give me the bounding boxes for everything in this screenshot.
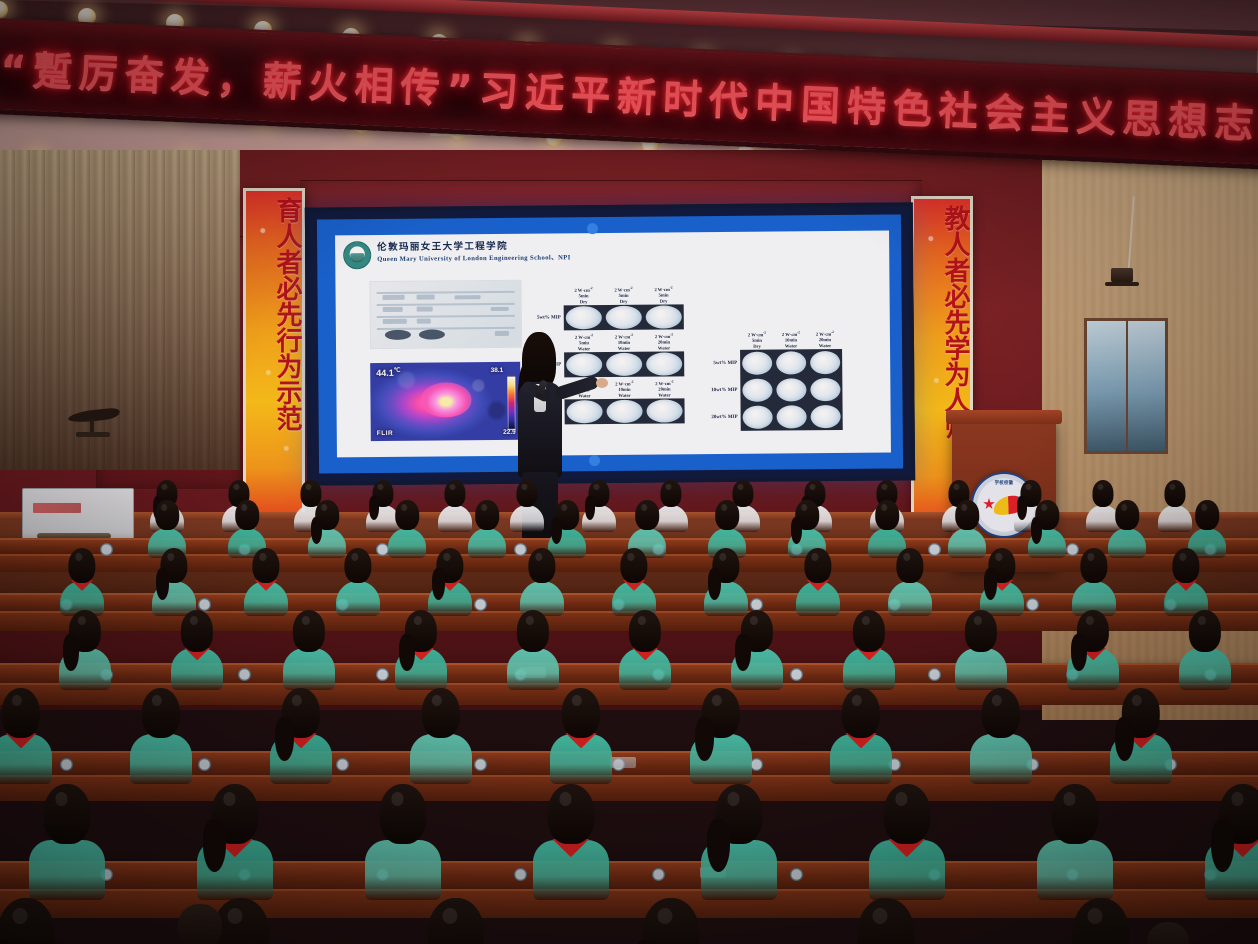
student xyxy=(336,548,380,616)
seat-number-badge xyxy=(336,758,349,771)
speaker-bracket xyxy=(1105,282,1139,286)
student-head xyxy=(379,784,426,844)
student-head xyxy=(635,500,659,530)
ponytail xyxy=(984,568,997,599)
student xyxy=(830,688,892,784)
student-uniform xyxy=(955,648,1007,690)
ponytail xyxy=(203,819,226,872)
student xyxy=(507,610,559,690)
student xyxy=(59,610,111,690)
student xyxy=(690,688,752,784)
slide-title-cn: 伦敦玛丽女王大学工程学院 xyxy=(377,238,508,253)
seat-plate xyxy=(610,757,636,768)
student xyxy=(438,480,472,532)
screen-dot xyxy=(587,223,598,234)
student xyxy=(520,548,564,616)
adult-head xyxy=(1147,922,1189,944)
seat-number-badge xyxy=(1026,598,1039,611)
student-head xyxy=(1072,898,1129,944)
sample-disc xyxy=(742,352,772,375)
student xyxy=(1158,480,1192,532)
student-head xyxy=(155,500,179,530)
student xyxy=(1179,610,1231,690)
projector-screen[interactable]: 伦敦玛丽女王大学工程学院 Queen Mary University of Lo… xyxy=(305,202,915,485)
student xyxy=(365,784,441,900)
student-head xyxy=(395,500,419,530)
student-head xyxy=(427,898,484,944)
student-head xyxy=(875,500,899,530)
ponytail xyxy=(369,496,379,520)
audience-area xyxy=(0,452,1258,944)
student-uniform xyxy=(130,734,192,784)
disc-column-label: 2 W·cm-2 10min Water xyxy=(604,333,644,352)
student-uniform xyxy=(507,648,559,690)
thermal-hotspot xyxy=(420,382,471,417)
adult-attendee xyxy=(1130,922,1206,944)
student-head xyxy=(293,610,325,652)
disc-row-label: 10wt% MIP xyxy=(696,387,737,392)
student xyxy=(533,784,609,900)
student xyxy=(468,500,506,558)
ponytail xyxy=(585,496,595,520)
student xyxy=(1037,784,1113,900)
student xyxy=(955,610,1007,690)
disc-column-label: 2 W·cm-2 20min Water xyxy=(644,379,684,398)
student xyxy=(244,548,288,616)
student xyxy=(410,898,502,944)
student-head xyxy=(562,688,600,738)
student xyxy=(60,548,104,616)
student-head xyxy=(422,688,460,738)
student-uniform xyxy=(29,840,105,900)
seat-number-badge xyxy=(790,868,803,881)
student xyxy=(619,610,671,690)
student xyxy=(550,688,612,784)
student xyxy=(171,610,223,690)
student xyxy=(888,548,932,616)
student xyxy=(283,610,335,690)
student-head xyxy=(142,688,180,738)
ponytail xyxy=(156,568,169,599)
screen-blue-border: 伦敦玛丽女王大学工程学院 Queen Mary University of Lo… xyxy=(317,214,903,473)
adult-attendee xyxy=(160,904,240,944)
ponytail xyxy=(1211,819,1234,872)
ponytail xyxy=(1115,717,1134,761)
seat-number-badge xyxy=(474,758,487,771)
student-head xyxy=(252,548,279,583)
disc-column-label: 2 W·cm-2 20min Water xyxy=(644,332,684,351)
seat-number-badge xyxy=(198,758,211,771)
flir-watermark: FLIR xyxy=(377,430,394,437)
student-head xyxy=(1189,610,1221,652)
student-head xyxy=(235,500,259,530)
student-head xyxy=(68,548,95,583)
disc-column-label: 2 W·cm-2 5min Dry xyxy=(740,331,774,350)
student-head xyxy=(629,610,661,652)
student xyxy=(869,784,945,900)
student xyxy=(510,480,544,532)
student-head xyxy=(1051,784,1098,844)
center-disc-grid: 2 W·cm-2 5min Dry2 W·cm-2 5min Dry2 W·cm… xyxy=(335,231,889,236)
disc-column-label: 2 W·cm-2 5min Dry xyxy=(643,285,683,304)
student-head xyxy=(1195,500,1219,530)
student xyxy=(796,548,840,616)
thermal-temperature: 44.1℃ xyxy=(376,367,400,378)
disc-column-label: 2 W·cm-2 5min Dry xyxy=(563,286,603,305)
student-head xyxy=(965,610,997,652)
university-logo-icon xyxy=(343,241,371,269)
student xyxy=(731,610,783,690)
student-head xyxy=(444,480,465,507)
student xyxy=(970,688,1032,784)
student xyxy=(1164,548,1208,616)
student-head xyxy=(853,610,885,652)
student xyxy=(1205,784,1258,900)
student xyxy=(152,548,196,616)
student-uniform xyxy=(468,528,506,558)
student xyxy=(1028,500,1066,558)
student xyxy=(130,688,192,784)
student-uniform xyxy=(1179,648,1231,690)
student-head xyxy=(896,548,923,583)
student xyxy=(704,548,748,616)
seat-number-badge xyxy=(474,598,487,611)
student xyxy=(29,784,105,900)
ponytail xyxy=(1071,634,1087,671)
student-head xyxy=(528,548,555,583)
student xyxy=(612,548,656,616)
student-head xyxy=(0,898,55,944)
student xyxy=(1072,548,1116,616)
student xyxy=(980,548,1024,616)
student-head xyxy=(804,548,831,583)
student xyxy=(197,784,273,900)
right-disc-grid: 5wt% MIP10wt% MIP20wt% MIP2 W·cm-2 5min … xyxy=(335,231,889,236)
presentation-slide: 伦敦玛丽女王大学工程学院 Queen Mary University of Lo… xyxy=(335,231,891,458)
sample-disc xyxy=(776,351,806,374)
student xyxy=(0,688,52,784)
ponytail xyxy=(708,568,721,599)
window xyxy=(1084,318,1168,454)
student-head xyxy=(620,548,647,583)
student xyxy=(843,610,895,690)
student-head xyxy=(1164,480,1185,507)
student-head xyxy=(883,784,930,844)
student-head xyxy=(955,500,979,530)
student xyxy=(0,898,72,944)
student xyxy=(395,610,447,690)
student-head xyxy=(2,688,40,738)
disc-column-label: 2 W·cm-2 10min Water xyxy=(774,330,808,349)
disc-column-label: 2 W·cm-2 10min Water xyxy=(604,380,644,399)
student-uniform xyxy=(365,840,441,900)
student-uniform xyxy=(970,734,1032,784)
ponytail xyxy=(399,634,415,671)
student-head xyxy=(517,610,549,652)
student xyxy=(1067,610,1119,690)
student-head xyxy=(547,784,594,844)
student xyxy=(582,480,616,532)
sample-disc xyxy=(810,378,840,401)
slide-title-en: Queen Mary University of London Engineer… xyxy=(377,251,571,263)
disc-row-label: 5wt% MIP xyxy=(696,360,737,365)
banner-left-text: 育人者必先行为示范 xyxy=(246,197,302,431)
student-head xyxy=(715,500,739,530)
adult-head xyxy=(178,904,222,944)
student xyxy=(388,500,426,558)
student-uniform xyxy=(388,528,426,558)
seat-number-badge xyxy=(60,758,73,771)
student-head xyxy=(857,898,914,944)
student xyxy=(428,548,472,616)
student-head xyxy=(1172,548,1199,583)
student-uniform xyxy=(1158,505,1192,532)
student-head xyxy=(475,500,499,530)
ponytail xyxy=(275,717,294,761)
student xyxy=(270,688,332,784)
ponytail xyxy=(1017,496,1027,520)
student xyxy=(625,898,717,944)
student-uniform xyxy=(283,648,335,690)
ponytail xyxy=(735,634,751,671)
disc-row-label: 20wt% MIP xyxy=(697,414,738,419)
student xyxy=(1110,688,1172,784)
sample-disc xyxy=(810,351,840,374)
sample-disc xyxy=(777,405,807,428)
sample-disc xyxy=(811,405,841,428)
student-head xyxy=(516,480,537,507)
ponytail xyxy=(63,634,79,671)
sample-disc xyxy=(776,378,806,401)
student-head xyxy=(842,688,880,738)
bird-sculpture xyxy=(62,408,126,430)
auditorium-photo: “蹔厉奋发，薪火相传”习近平新时代中国特色社会主义思想志愿 育人者必先行为示范 … xyxy=(0,0,1258,944)
student-head xyxy=(43,784,90,844)
student-uniform xyxy=(1037,840,1113,900)
student-head xyxy=(181,610,213,652)
student xyxy=(701,784,777,900)
student xyxy=(410,688,472,784)
sample-disc xyxy=(742,379,772,402)
student-uniform xyxy=(336,581,380,616)
seat-number-badge xyxy=(652,868,665,881)
disc-column-label: 2 W·cm-2 5min Dry xyxy=(603,286,643,305)
banner-right-text: 教人者必先学为人师 xyxy=(914,205,970,439)
student-head xyxy=(1080,548,1107,583)
wall-speaker xyxy=(1111,268,1133,282)
student-head xyxy=(1115,500,1139,530)
student-uniform xyxy=(410,734,472,784)
seat-number-badge xyxy=(198,598,211,611)
ponytail xyxy=(707,819,730,872)
student-uniform xyxy=(510,505,544,532)
student xyxy=(840,898,932,944)
podium-top xyxy=(946,410,1062,424)
student-head xyxy=(344,548,371,583)
student-head xyxy=(982,688,1020,738)
seat-number-badge xyxy=(750,598,763,611)
seat-number-badge xyxy=(514,868,527,881)
disc-row-label: 5wt% MIP xyxy=(518,315,561,320)
student-uniform xyxy=(438,505,472,532)
disc-column-label: 2 W·cm-2 20min Water xyxy=(808,330,842,349)
sample-disc xyxy=(743,406,773,429)
ponytail xyxy=(432,568,445,599)
ponytail xyxy=(695,717,714,761)
student-head xyxy=(642,898,699,944)
